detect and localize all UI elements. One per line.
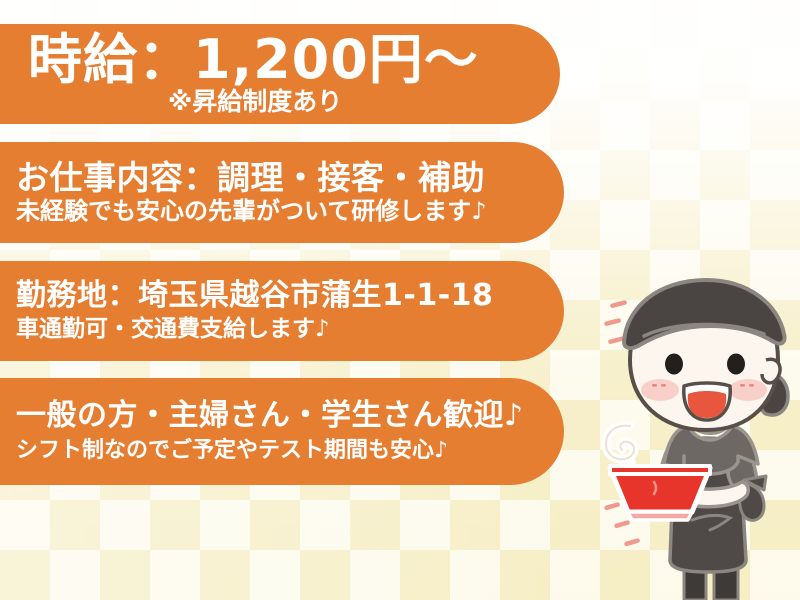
banner-work-location: 勤務地：埼玉県越谷市蒲生1-1-18 車通勤可・交通費支給します♪ (0, 261, 564, 361)
banner-job-description-headline: お仕事内容：調理・接客・補助 (16, 161, 504, 195)
banner-work-location-subline: 車通勤可・交通費支給します♪ (16, 317, 504, 341)
banner-who-welcome-headline: 一般の方・主婦さん・学生さん歓迎♪ (16, 401, 504, 432)
banner-work-location-headline: 勤務地：埼玉県越谷市蒲生1-1-18 (16, 281, 504, 312)
banner-wage-headline: 時給：1,200円〜 (28, 32, 500, 87)
banner-job-description: お仕事内容：調理・接客・補助 未経験でも安心の先輩がついて研修します♪ (0, 142, 564, 243)
banner-wage: 時給：1,200円〜 ※昇給制度あり (0, 24, 560, 124)
banner-job-description-subline: 未経験でも安心の先輩がついて研修します♪ (16, 199, 504, 224)
open-mouth-icon (684, 383, 730, 420)
banner-who-welcome-subline: シフト制なのでご予定やテスト期間も安心♪ (16, 439, 504, 462)
job-ad-poster: 時給：1,200円〜 ※昇給制度あり お仕事内容：調理・接客・補助 未経験でも安… (0, 0, 800, 600)
banner-who-welcome: 一般の方・主婦さん・学生さん歓迎♪ シフト制なのでご予定やテスト期間も安心♪ (0, 378, 564, 485)
staff-character-illustration (588, 268, 800, 600)
banner-wage-subline: ※昇給制度あり (168, 89, 500, 115)
